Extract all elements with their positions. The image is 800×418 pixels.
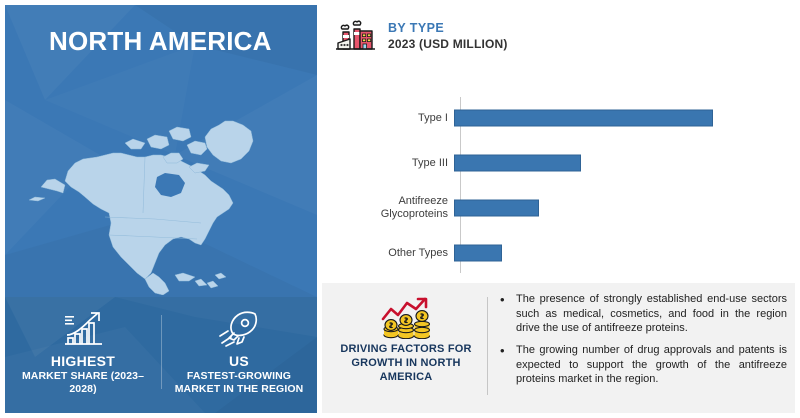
bar-track [454,98,784,138]
bullet-marker: • [500,343,516,387]
bar-track [454,143,784,183]
chart-row-other-types: Other Types [334,233,784,273]
drivers-divider [487,297,488,395]
chart-header: BY TYPE 2023 (USD MILLION) [334,15,508,59]
stat-headline: US [229,353,249,369]
infographic-root: NORTH AMERICA [0,0,800,418]
chart-row-type-iii: Type III [334,143,784,183]
stats-panel: HIGHEST MARKET SHARE (2023–2028) [5,297,317,413]
bar-category-label: Antifreeze Glycoproteins [334,195,454,221]
stat-sublabel: FASTEST-GROWING MARKET IN THE REGION [173,370,305,396]
driving-factors-list: • The presence of strongly established e… [500,292,787,394]
bar [454,200,539,217]
region-panel: NORTH AMERICA [5,5,317,413]
chart-title: BY TYPE [388,21,508,37]
list-item: • The growing number of drug approvals a… [500,343,787,387]
stat-fastest-growing-market: US FASTEST-GROWING MARKET IN THE REGION [161,297,317,413]
bar [454,110,713,127]
bar-chart-growth-icon [60,309,106,349]
bar-chart: Type I Type III Antifreeze Glycoproteins… [334,95,784,275]
stats-divider [161,315,162,389]
stat-highest-market-share: HIGHEST MARKET SHARE (2023–2028) [5,297,161,413]
bar-track [454,233,784,273]
driving-factors-panel: DRIVING FACTORS FOR GROWTH IN NORTH AMER… [322,283,795,413]
chart-row-type-i: Type I [334,98,784,138]
bar [454,245,502,262]
stat-sublabel: MARKET SHARE (2023–2028) [17,370,149,396]
chart-subtitle: 2023 (USD MILLION) [388,37,508,53]
bullet-marker: • [500,292,516,336]
bar-category-label: Type I [334,112,454,125]
north-america-map [5,67,317,295]
driving-factors-title: DRIVING FACTORS FOR GROWTH IN NORTH AMER… [330,343,482,385]
chart-panel: BY TYPE 2023 (USD MILLION) Type I Type I… [322,5,795,281]
stat-headline: HIGHEST [51,353,115,369]
bar-track [454,188,784,228]
bar-category-label: Type III [334,157,454,170]
factory-icon [334,15,378,59]
list-item-text: The presence of strongly established end… [516,292,787,336]
driving-factors-heading-block: DRIVING FACTORS FOR GROWTH IN NORTH AMER… [330,291,482,405]
bar-category-label: Other Types [334,247,454,260]
chart-row-antifreeze-glycoproteins: Antifreeze Glycoproteins [334,188,784,228]
list-item: • The presence of strongly established e… [500,292,787,336]
bar [454,155,581,172]
page-title: NORTH AMERICA [49,27,272,56]
list-item-text: The growing number of drug approvals and… [516,343,787,387]
map-icon [5,67,317,295]
coins-growth-icon [377,295,435,339]
rocket-icon [217,309,261,349]
